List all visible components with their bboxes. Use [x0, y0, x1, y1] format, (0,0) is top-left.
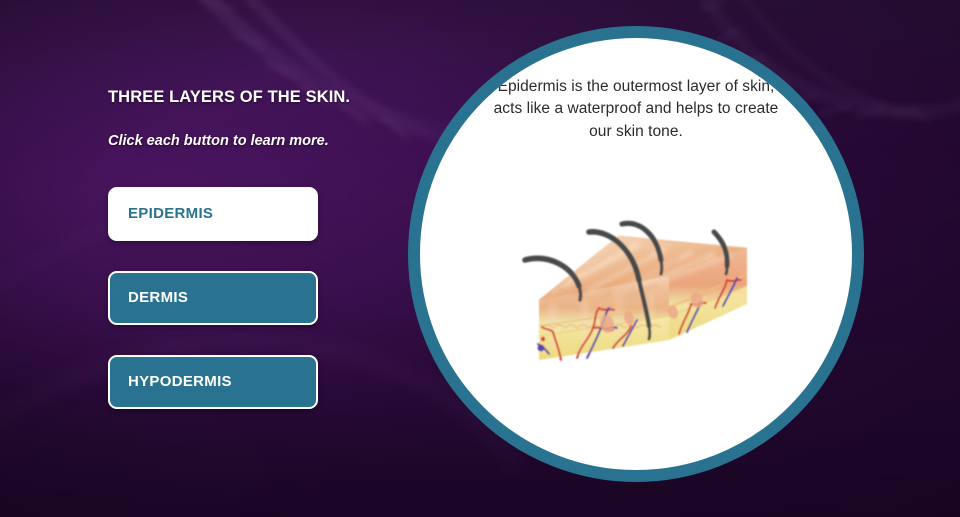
info-circle-panel: Epidermis is the outermost layer of skin…	[408, 26, 864, 482]
button-epidermis[interactable]: EPIDERMIS	[108, 187, 318, 241]
page-title: THREE LAYERS OF THE SKIN.	[108, 88, 408, 107]
button-dermis[interactable]: DERMIS	[108, 271, 318, 325]
page-subtitle: Click each button to learn more.	[108, 107, 408, 149]
left-text-panel: THREE LAYERS OF THE SKIN. Click each but…	[108, 88, 408, 149]
layer-button-list: EPIDERMIS DERMIS HYPODERMIS	[108, 187, 318, 409]
slide-canvas: THREE LAYERS OF THE SKIN. Click each but…	[0, 0, 960, 517]
button-hypodermis[interactable]: HYPODERMIS	[108, 355, 318, 409]
layer-description-text: Epidermis is the outermost layer of skin…	[491, 76, 781, 143]
skin-cross-section-diagram	[501, 208, 771, 408]
